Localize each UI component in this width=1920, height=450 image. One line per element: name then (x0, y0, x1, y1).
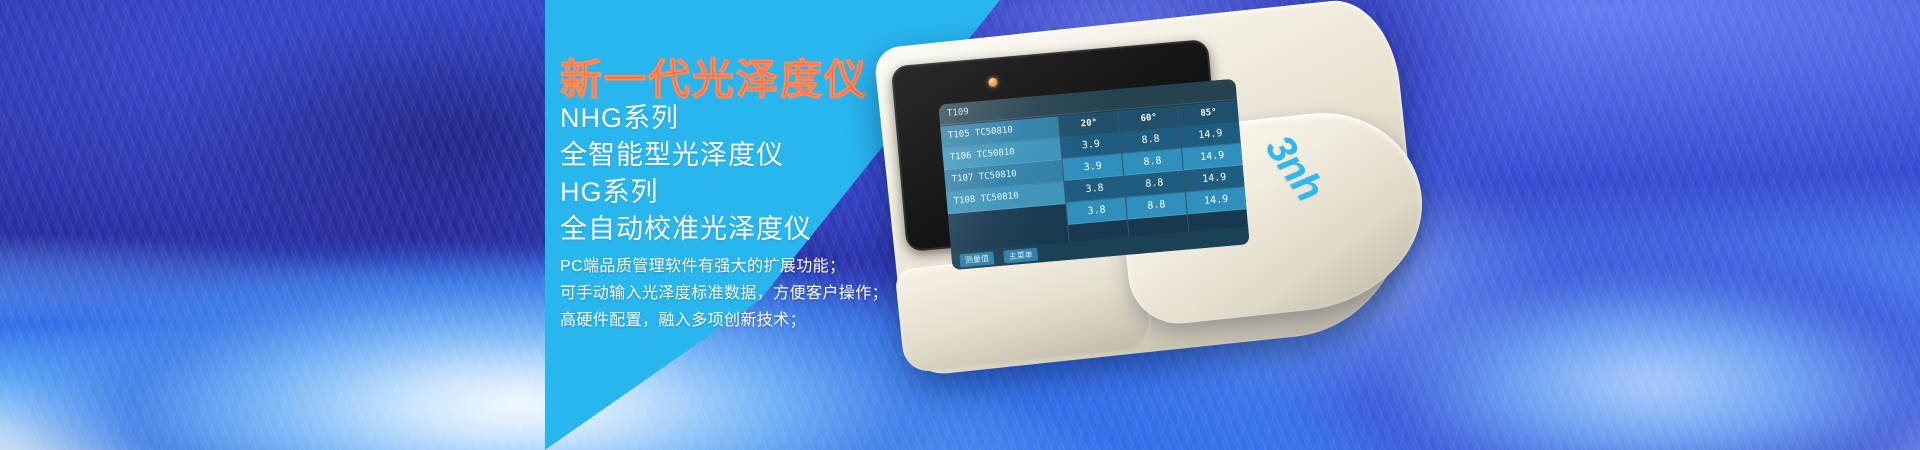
banner-feature-line-2: 可手动输入光泽度标准数据，方便客户操作； (560, 279, 888, 303)
lcd-sample-name-column: T105 TC50810 T106 TC50810 T107 TC50810 T… (940, 116, 1069, 252)
lcd-button-main-menu[interactable]: 主菜单 (1003, 247, 1038, 263)
banner-feature-line-1: PC端品质管理软件有强大的扩展功能； (560, 252, 845, 276)
banner-subheading-hg-series: HG系列 (560, 170, 659, 209)
banner-feature-line-3: 高硬件配置，融入多项创新技术； (560, 306, 806, 330)
lcd-column-20deg: 20° 3.9 3.9 3.8 3.8 (1058, 111, 1129, 242)
status-led-icon (988, 77, 998, 87)
lcd-column-85deg: 85° 14.9 14.9 14.9 14.9 (1177, 101, 1248, 232)
lcd-button-measure[interactable]: 测量值 (959, 251, 994, 267)
device-lcd-screen: T109 基本模式 10:51 2019.05.08 T105 TC50810 … (938, 79, 1249, 270)
lcd-value-columns: 20° 3.9 3.9 3.8 3.8 60° 8.8 8.8 8.8 8.8 (1058, 101, 1248, 242)
table-cell: 14.9 (1186, 187, 1247, 214)
table-cell: 3.8 (1066, 198, 1127, 225)
lcd-column-60deg: 60° 8.8 8.8 8.8 8.8 (1117, 106, 1188, 237)
device-screen-bezel: T109 基本模式 10:51 2019.05.08 T105 TC50810 … (891, 39, 1224, 252)
banner-subheading-nhg-series: NHG系列 (560, 96, 679, 135)
gloss-meter-device: T109 基本模式 10:51 2019.05.08 T105 TC50810 … (852, 0, 1467, 409)
product-banner: 新一代光泽度仪 NHG系列 全智能型光泽度仪 HG系列 全自动校准光泽度仪 PC… (0, 0, 1920, 450)
table-cell: 8.8 (1126, 193, 1187, 220)
banner-subheading-hg-desc: 全自动校准光泽度仪 (560, 207, 812, 246)
banner-subheading-nhg-desc: 全智能型光泽度仪 (560, 133, 784, 172)
